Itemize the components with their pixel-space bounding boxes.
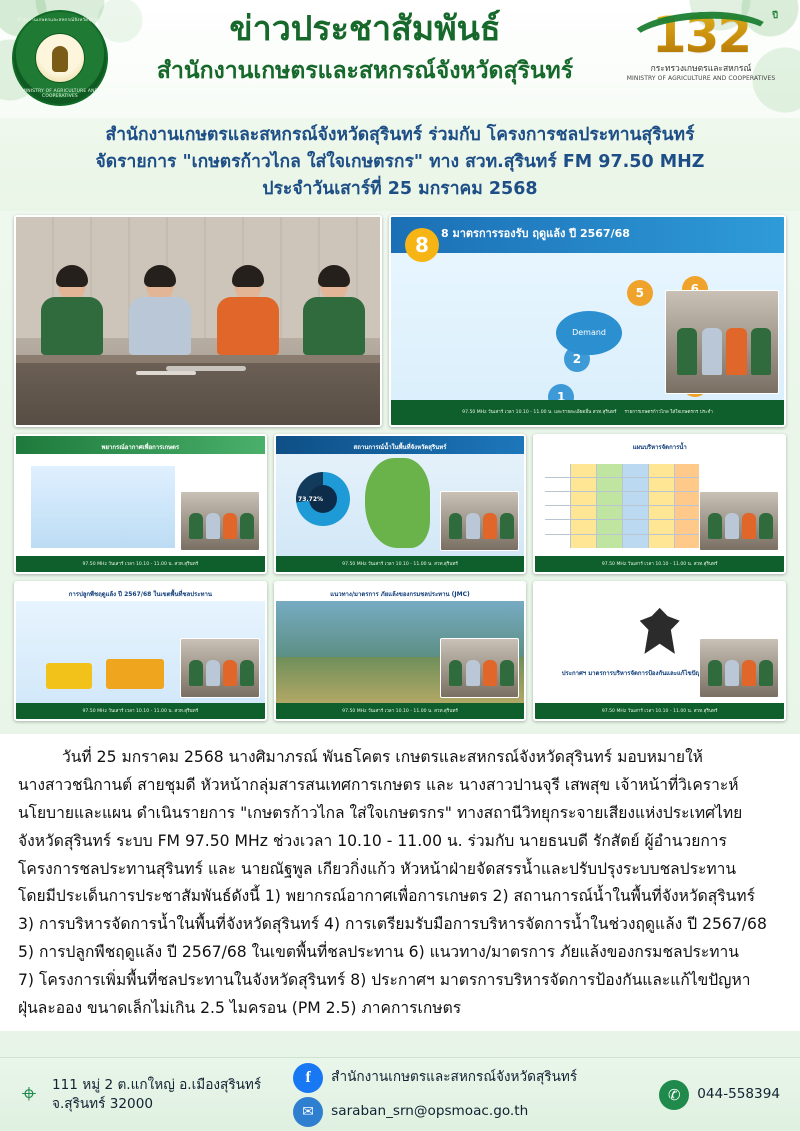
slide-title: 8 มาตรการรองรับ ฤดูแล้ง ปี 2567/68 <box>441 224 774 242</box>
photo-studio[interactable] <box>14 215 382 427</box>
slide-footer-right: รายการเกษตรก้าวไกล ใส่ใจเกษตรกร ประจำ <box>624 409 712 416</box>
inset-studio-thumbnail <box>440 638 520 698</box>
article-body: วันที่ 25 มกราคม 2568 นางศิมาภรณ์ พันธโค… <box>0 734 800 1030</box>
slide-weather-image: พยากรณ์อากาศเพื่อการเกษตร 97.50 MHz วันเ… <box>16 436 265 572</box>
slide-jmc-image: แนวทาง/มาตรการ ภัยแล้งของกรมชลประทาน (JM… <box>276 583 525 719</box>
seal-figure-icon <box>52 46 68 72</box>
body-paragraph: นางสาวชนิกานต์ สายชุมดี หัวหน้ากลุ่มสารส… <box>18 772 782 799</box>
slide-footer: 97.50 MHz วันเสาร์ เวลา 10.10 - 11.00 น.… <box>391 400 784 425</box>
gallery-row-1: 8 8 มาตรการรองรับ ฤดูแล้ง ปี 2567/68 5 6… <box>14 215 786 427</box>
photo-slide-watersituation[interactable]: สถานการณ์น้ำในพื้นที่จังหวัดสุรินทร์ 73.… <box>274 434 527 574</box>
garuda-icon <box>640 608 680 654</box>
inset-studio-thumbnail <box>699 491 779 551</box>
slide-footer: 97.50 MHz วันเสาร์ เวลา 10.10 - 11.00 น.… <box>535 556 784 572</box>
intro-line-2: จัดรายการ "เกษตรก้าวไกล ใส่ใจเกษตรกร" ทา… <box>18 149 782 176</box>
photo-slide-announcement[interactable]: ประกาศฯ มาตรการบริหารจัดการป้องกันและแก้… <box>533 581 786 721</box>
email-text: saraban_srn@opsmoac.go.th <box>331 1102 528 1120</box>
slide-title: สถานการณ์น้ำในพื้นที่จังหวัดสุรินทร์ <box>282 442 519 452</box>
inset-studio-thumbnail <box>699 638 779 698</box>
slide-drycrops-image: การปลูกพืชฤดูแล้ง ปี 2567/68 ในเขตพื้นที… <box>16 583 265 719</box>
photo-slide-8measures[interactable]: 8 8 มาตรการรองรับ ฤดูแล้ง ปี 2567/68 5 6… <box>389 215 786 427</box>
facebook-icon: f <box>293 1063 323 1093</box>
header: สำนักงานเกษตรและสหกรณ์จังหวัดสุรินทร์ MI… <box>0 0 800 118</box>
footer-contacts: f สำนักงานเกษตรและสหกรณ์จังหวัดสุรินทร์ … <box>293 1063 577 1127</box>
photo-slide-drycrops[interactable]: การปลูกพืชฤดูแล้ง ปี 2567/68 ในเขตพื้นที… <box>14 581 267 721</box>
anniversary-logo: ปี 132 กระทรวงเกษตรและสหกรณ์ MINISTRY OF… <box>612 6 790 110</box>
slide-watersituation-image: สถานการณ์น้ำในพื้นที่จังหวัดสุรินทร์ 73.… <box>276 436 525 572</box>
slide-footer: 97.50 MHz วันเสาร์ เวลา 10.10 - 11.00 น.… <box>535 703 784 719</box>
inset-studio-thumbnail <box>440 491 520 551</box>
body-paragraph: โครงการชลประทานสุรินทร์ และ นายณัฐพูล เก… <box>18 856 782 883</box>
email-icon: ✉ <box>293 1097 323 1127</box>
intro-line-3: ประจำวันเสาร์ที่ 25 มกราคม 2568 <box>18 176 782 203</box>
photo-slide-jmc[interactable]: แนวทาง/มาตรการ ภัยแล้งของกรมชลประทาน (JM… <box>274 581 527 721</box>
photo-gallery: 8 8 มาตรการรองรับ ฤดูแล้ง ปี 2567/68 5 6… <box>0 211 800 734</box>
donut-value: 73.72% <box>298 496 323 503</box>
inset-studio-thumbnail <box>180 491 260 551</box>
body-paragraph: โดยมีประเด็นการประชาสัมพันธ์ดังนี้ 1) พย… <box>18 883 782 910</box>
slide-footer-left: 97.50 MHz วันเสาร์ เวลา 10.10 - 11.00 น.… <box>462 409 616 416</box>
slide-footer: 97.50 MHz วันเสาร์ เวลา 10.10 - 11.00 น.… <box>16 703 265 719</box>
slide-footer: 97.50 MHz วันเสาร์ เวลา 10.10 - 11.00 น.… <box>16 556 265 572</box>
body-paragraph: 3) การบริหารจัดการน้ำในพื้นที่จังหวัดสุร… <box>18 911 782 938</box>
body-paragraph: 5) การปลูกพืชฤดูแล้ง ปี 2567/68 ในเขตพื้… <box>18 939 782 966</box>
slide-title: แนวทาง/มาตรการ ภัยแล้งของกรมชลประทาน (JM… <box>282 589 519 599</box>
address-line-1: 111 หมู่ 2 ต.แกใหญ่ อ.เมืองสุรินทร์ <box>52 1076 261 1094</box>
slide-title: การปลูกพืชฤดูแล้ง ปี 2567/68 ในเขตพื้นที… <box>22 589 259 599</box>
facebook-text: สำนักงานเกษตรและสหกรณ์จังหวัดสุรินทร์ <box>331 1068 577 1086</box>
seal-inner <box>35 33 85 83</box>
slide-8measures-image: 8 8 มาตรการรองรับ ฤดูแล้ง ปี 2567/68 5 6… <box>391 217 784 425</box>
footer-facebook[interactable]: f สำนักงานเกษตรและสหกรณ์จังหวัดสุรินทร์ <box>293 1063 577 1093</box>
body-paragraph: นโยบายและแผน ดำเนินรายการ "เกษตรก้าวไกล … <box>18 800 782 827</box>
page-subtitle: สำนักงานเกษตรและสหกรณ์จังหวัดสุรินทร์ <box>120 55 610 87</box>
slide-title: แผนบริหารจัดการน้ำ <box>541 442 778 452</box>
footer-address: ⌖ 111 หมู่ 2 ต.แกใหญ่ อ.เมืองสุรินทร์ จ.… <box>14 1076 261 1113</box>
slide-announcement-image: ประกาศฯ มาตรการบริหารจัดการป้องกันและแก้… <box>535 583 784 719</box>
header-titles: ข่าวประชาสัมพันธ์ สำนักงานเกษตรและสหกรณ์… <box>120 8 610 87</box>
data-table <box>545 464 699 548</box>
seal-text-top: สำนักงานเกษตรและสหกรณ์จังหวัดสุรินทร์ <box>14 16 106 23</box>
slide-watertable-image: แผนบริหารจัดการน้ำ <box>535 436 784 572</box>
logo-year: ปี <box>772 8 778 22</box>
logo-ministry-en: MINISTRY OF AGRICULTURE AND COOPERATIVES <box>612 75 790 82</box>
footer-email[interactable]: ✉ saraban_srn@opsmoac.go.th <box>293 1097 577 1127</box>
studio-photo-image <box>16 217 380 425</box>
intro-line-1: สำนักงานเกษตรและสหกรณ์จังหวัดสุรินทร์ ร่… <box>18 122 782 149</box>
gallery-row-3: การปลูกพืชฤดูแล้ง ปี 2567/68 ในเขตพื้นที… <box>14 581 786 721</box>
photo-slide-weather[interactable]: พยากรณ์อากาศเพื่อการเกษตร 97.50 MHz วันเ… <box>14 434 267 574</box>
poster-page: สำนักงานเกษตรและสหกรณ์จังหวัดสุรินทร์ MI… <box>0 0 800 1131</box>
phone-text: 044-558394 <box>697 1085 780 1103</box>
address-line-2: จ.สุรินทร์ 32000 <box>52 1095 261 1113</box>
inset-studio-thumbnail <box>180 638 260 698</box>
gallery-row-2: พยากรณ์อากาศเพื่อการเกษตร 97.50 MHz วันเ… <box>14 434 786 574</box>
seal-text-bottom: MINISTRY OF AGRICULTURE AND COOPERATIVES <box>14 89 106 99</box>
body-paragraph: จังหวัดสุรินทร์ ระบบ FM 97.50 MHz ช่วงเว… <box>18 828 782 855</box>
body-paragraph: วันที่ 25 มกราคม 2568 นางศิมาภรณ์ พันธโค… <box>18 744 782 771</box>
slide-footer: 97.50 MHz วันเสาร์ เวลา 10.10 - 11.00 น.… <box>276 703 525 719</box>
phone-icon: ✆ <box>659 1080 689 1110</box>
center-demand-label: Demand <box>556 311 622 355</box>
footer-phone[interactable]: ✆ 044-558394 <box>659 1080 780 1110</box>
ministry-seal-icon: สำนักงานเกษตรและสหกรณ์จังหวัดสุรินทร์ MI… <box>12 10 108 106</box>
body-paragraph: 7) โครงการเพิ่มพื้นที่ชลประทานในจังหวัดส… <box>18 967 782 994</box>
address-text: 111 หมู่ 2 ต.แกใหญ่ อ.เมืองสุรินทร์ จ.สุ… <box>52 1076 261 1113</box>
inset-studio-thumbnail <box>665 290 779 394</box>
node-5: 5 <box>627 280 653 306</box>
slide-footer: 97.50 MHz วันเสาร์ เวลา 10.10 - 11.00 น.… <box>276 556 525 572</box>
measure-badge: 8 <box>405 228 439 262</box>
slide-title: พยากรณ์อากาศเพื่อการเกษตร <box>22 442 259 452</box>
page-title: ข่าวประชาสัมพันธ์ <box>120 8 610 51</box>
photo-slide-watertable[interactable]: แผนบริหารจัดการน้ำ <box>533 434 786 574</box>
footer: ⌖ 111 หมู่ 2 ต.แกใหญ่ อ.เมืองสุรินทร์ จ.… <box>0 1057 800 1131</box>
location-pin-icon: ⌖ <box>14 1080 44 1110</box>
intro-block: สำนักงานเกษตรและสหกรณ์จังหวัดสุรินทร์ ร่… <box>0 118 800 211</box>
body-paragraph: ฝุ่นละออง ขนาดเล็กไม่เกิน 2.5 ไมครอน (PM… <box>18 995 782 1022</box>
